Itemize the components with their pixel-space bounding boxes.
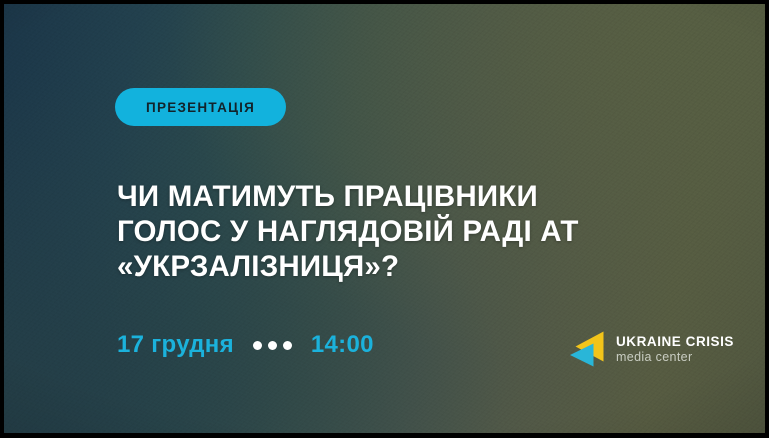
ukraine-crisis-triangle-icon [567, 327, 607, 371]
ucmc-logo-subtitle: media center [616, 351, 734, 364]
dot-icon [283, 341, 292, 350]
poster-content: ПРЕЗЕНТАЦІЯ ЧИ МАТИМУТЬ ПРАЦІВНИКИ ГОЛОС… [4, 4, 765, 433]
page-title-line-1: ЧИ МАТИМУТЬ ПРАЦІВНИКИ [117, 179, 677, 214]
ucmc-logo: UKRAINE CRISIS media center [567, 326, 734, 372]
poster-canvas: ПРЕЗЕНТАЦІЯ ЧИ МАТИМУТЬ ПРАЦІВНИКИ ГОЛОС… [4, 4, 765, 433]
dot-icon [268, 341, 277, 350]
poster-frame: ПРЕЗЕНТАЦІЯ ЧИ МАТИМУТЬ ПРАЦІВНИКИ ГОЛОС… [0, 0, 769, 438]
event-date: 17 грудня [117, 331, 234, 359]
event-time: 14:00 [311, 331, 374, 359]
page-title-line-2: ГОЛОС У НАГЛЯДОВІЙ РАДІ АТ [117, 214, 677, 249]
dots-separator-icon [253, 341, 292, 350]
event-datetime: 17 грудня 14:00 [117, 329, 374, 361]
ucmc-logo-text: UKRAINE CRISIS media center [616, 335, 734, 364]
page-title-line-3: «УКРЗАЛІЗНИЦЯ»? [117, 249, 677, 284]
category-badge-label: ПРЕЗЕНТАЦІЯ [146, 100, 255, 115]
dot-icon [253, 341, 262, 350]
category-badge: ПРЕЗЕНТАЦІЯ [115, 88, 286, 126]
ucmc-logo-title: UKRAINE CRISIS [616, 335, 734, 349]
page-title: ЧИ МАТИМУТЬ ПРАЦІВНИКИ ГОЛОС У НАГЛЯДОВІ… [117, 179, 677, 284]
